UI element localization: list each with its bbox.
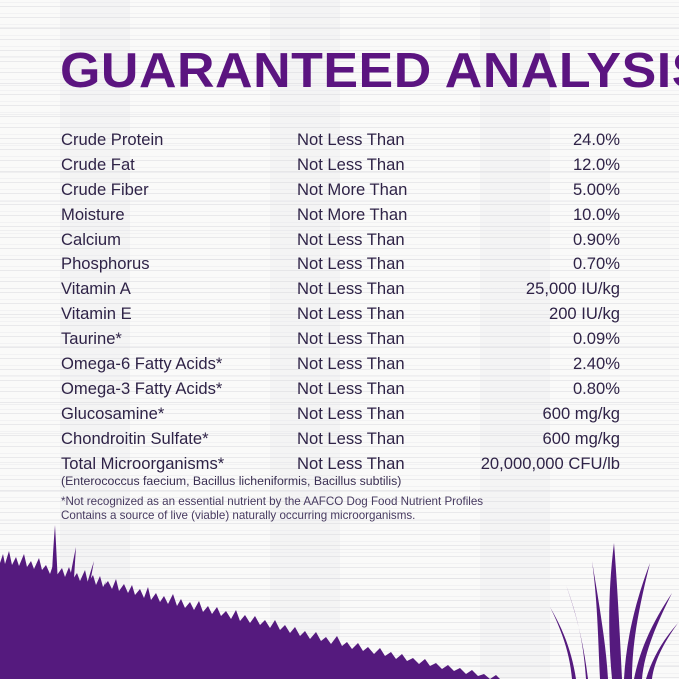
nutrient-name: Omega-6 Fatty Acids* bbox=[61, 352, 222, 377]
nutrient-qualifier: Not Less Than bbox=[297, 252, 405, 277]
page-title: GUARANTEED ANALYSIS bbox=[60, 46, 654, 96]
nutrient-name: Vitamin E bbox=[61, 302, 132, 327]
table-row: Vitamin ENot Less Than200 IU/kg bbox=[0, 302, 679, 327]
table-row: Taurine*Not Less Than0.09% bbox=[0, 327, 679, 352]
nutrient-qualifier: Not Less Than bbox=[297, 427, 405, 452]
nutrient-value: 24.0% bbox=[573, 128, 620, 153]
nutrient-value: 200 IU/kg bbox=[549, 302, 620, 327]
nutrient-qualifier: Not Less Than bbox=[297, 277, 405, 302]
nutrient-value: 0.80% bbox=[573, 377, 620, 402]
table-row: Crude FatNot Less Than12.0% bbox=[0, 153, 679, 178]
footnote-aafco: *Not recognized as an essential nutrient… bbox=[61, 495, 483, 509]
table-row: MoistureNot More Than10.0% bbox=[0, 203, 679, 228]
nutrient-value: 25,000 IU/kg bbox=[526, 277, 620, 302]
nutrient-value: 600 mg/kg bbox=[543, 427, 620, 452]
nutrient-value: 5.00% bbox=[573, 178, 620, 203]
nutrient-name: Taurine* bbox=[61, 327, 122, 352]
nutrient-qualifier: Not Less Than bbox=[297, 128, 405, 153]
nutrient-qualifier: Not More Than bbox=[297, 178, 407, 203]
nutrient-value: 0.90% bbox=[573, 228, 620, 253]
nutrient-value: 20,000,000 CFU/lb bbox=[481, 452, 620, 477]
table-row: PhosphorusNot Less Than0.70% bbox=[0, 252, 679, 277]
table-row: Crude ProteinNot Less Than24.0% bbox=[0, 128, 679, 153]
nutrient-name: Phosphorus bbox=[61, 252, 150, 277]
nutrient-name: Moisture bbox=[61, 203, 125, 228]
nutrient-value: 0.09% bbox=[573, 327, 620, 352]
nutrient-value: 10.0% bbox=[573, 203, 620, 228]
nutrient-value: 12.0% bbox=[573, 153, 620, 178]
nutrient-name: Chondroitin Sulfate* bbox=[61, 427, 209, 452]
nutrient-qualifier: Not Less Than bbox=[297, 352, 405, 377]
nutrient-name: Calcium bbox=[61, 228, 121, 253]
table-row: Omega-3 Fatty Acids*Not Less Than0.80% bbox=[0, 377, 679, 402]
nutrient-name: Omega-3 Fatty Acids* bbox=[61, 377, 222, 402]
table-row: CalciumNot Less Than0.90% bbox=[0, 228, 679, 253]
grass-blades-tall-right bbox=[550, 543, 678, 679]
nutrient-qualifier: Not Less Than bbox=[297, 377, 405, 402]
nutrient-value: 600 mg/kg bbox=[543, 402, 620, 427]
nutrient-name: Crude Fat bbox=[61, 153, 135, 178]
nutrient-qualifier: Not Less Than bbox=[297, 302, 405, 327]
guaranteed-analysis-table: Crude ProteinNot Less Than24.0%Crude Fat… bbox=[0, 128, 679, 476]
table-row: Omega-6 Fatty Acids*Not Less Than2.40% bbox=[0, 352, 679, 377]
nutrient-value: 0.70% bbox=[573, 252, 620, 277]
nutrient-value: 2.40% bbox=[573, 352, 620, 377]
probiotic-strains-note: (Enterococcus faecium, Bacillus lichenif… bbox=[61, 473, 401, 489]
nutrient-name: Crude Fiber bbox=[61, 178, 149, 203]
nutrient-qualifier: Not Less Than bbox=[297, 402, 405, 427]
nutrient-qualifier: Not Less Than bbox=[297, 228, 405, 253]
nutrient-qualifier: Not Less Than bbox=[297, 153, 405, 178]
grass-silhouette-decoration bbox=[0, 519, 679, 679]
nutrient-name: Vitamin A bbox=[61, 277, 131, 302]
nutrient-name: Glucosamine* bbox=[61, 402, 164, 427]
table-row: Vitamin ANot Less Than25,000 IU/kg bbox=[0, 277, 679, 302]
table-row: Chondroitin Sulfate*Not Less Than600 mg/… bbox=[0, 427, 679, 452]
nutrient-qualifier: Not Less Than bbox=[297, 327, 405, 352]
table-row: Crude FiberNot More Than5.00% bbox=[0, 178, 679, 203]
nutrient-qualifier: Not More Than bbox=[297, 203, 407, 228]
nutrient-name: Crude Protein bbox=[61, 128, 163, 153]
grass-ground-mound bbox=[0, 551, 679, 679]
table-row: Glucosamine*Not Less Than600 mg/kg bbox=[0, 402, 679, 427]
